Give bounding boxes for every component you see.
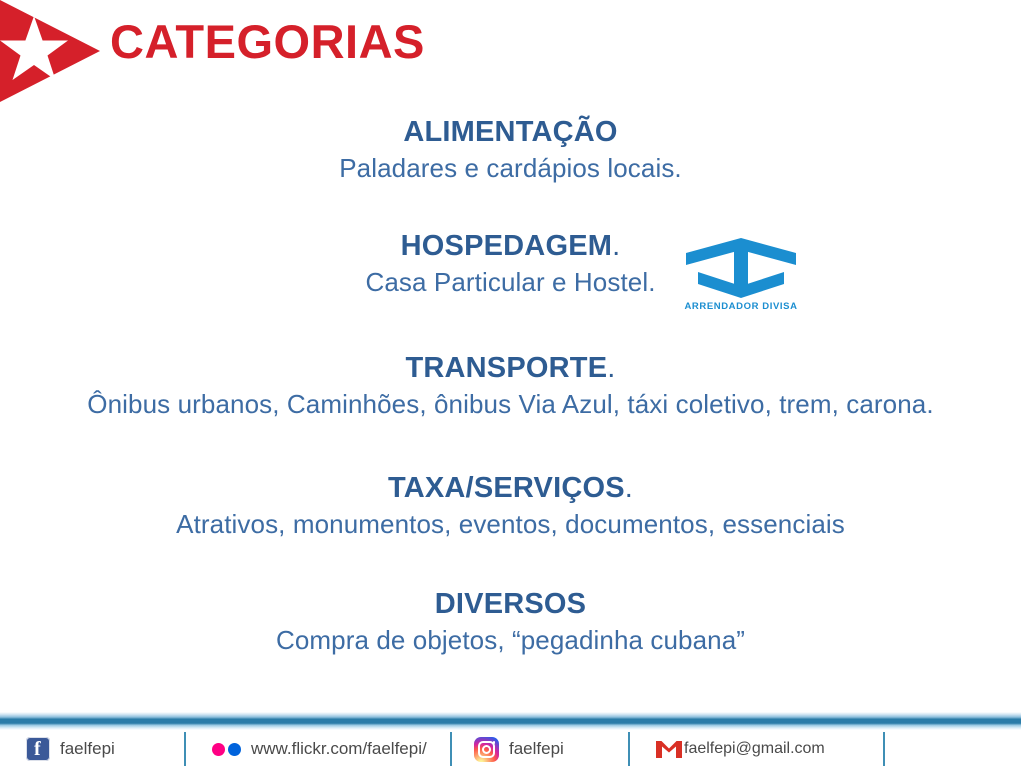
categories-list: ALIMENTAÇÃO Paladares e cardápios locais… <box>0 112 1021 658</box>
arrendador-divisa-logo: ARRENDADOR DIVISA <box>682 236 800 318</box>
footer-item-flickr[interactable]: www.flickr.com/faelfepi/ <box>186 731 452 767</box>
category-heading-text: HOSPEDAGEM <box>401 230 612 262</box>
footer-item-facebook[interactable]: faelfepi <box>0 731 186 767</box>
footer-item-label: faelfepi@gmail.com <box>684 740 825 758</box>
category-heading-text: TRANSPORTE <box>405 352 607 384</box>
slide-footer: faelfepi www.flickr.com/faelfepi/ faelfe… <box>0 712 1021 767</box>
category-description: Casa Particular e Hostel. <box>0 266 1021 300</box>
flickr-icon <box>212 743 241 756</box>
footer-divider <box>883 732 885 766</box>
category-heading: DIVERSOS <box>0 586 1021 622</box>
footer-item-label: www.flickr.com/faelfepi/ <box>251 739 427 759</box>
page-title: CATEGORIAS <box>110 16 425 68</box>
category-heading-text: ALIMENTAÇÃO <box>403 116 617 148</box>
category-heading: HOSPEDAGEM. <box>0 228 1021 264</box>
footer-social-bar: faelfepi www.flickr.com/faelfepi/ faelfe… <box>0 731 1021 767</box>
category-heading: ALIMENTAÇÃO <box>0 114 1021 150</box>
category-heading: TRANSPORTE. <box>0 350 1021 386</box>
category-block-diversos: DIVERSOS Compra de objetos, “pegadinha c… <box>0 586 1021 658</box>
category-heading-punct: . <box>625 472 633 504</box>
category-block-hospedagem: HOSPEDAGEM. Casa Particular e Hostel. AR… <box>0 228 1021 300</box>
footer-item-instagram[interactable]: faelfepi <box>452 731 630 767</box>
category-heading-text: TAXA/SERVIÇOS <box>388 472 625 504</box>
slide-header: CATEGORIAS <box>0 0 1021 105</box>
instagram-icon <box>474 737 499 762</box>
arrendador-divisa-icon <box>682 236 800 300</box>
arrendador-divisa-caption: ARRENDADOR DIVISA <box>682 301 800 312</box>
category-description: Ônibus urbanos, Caminhões, ônibus Via Az… <box>0 388 1021 422</box>
facebook-icon <box>26 737 50 761</box>
gmail-icon <box>656 739 682 759</box>
cuba-flag-icon <box>0 0 104 102</box>
category-description: Paladares e cardápios locais. <box>0 152 1021 186</box>
footer-item-label: faelfepi <box>60 739 115 759</box>
footer-item-label: faelfepi <box>509 739 564 759</box>
category-heading-punct: . <box>607 352 615 384</box>
category-heading-text: DIVERSOS <box>435 588 586 620</box>
category-block-taxa-servicos: TAXA/SERVIÇOS. Atrativos, monumentos, ev… <box>0 470 1021 542</box>
category-heading-punct: . <box>612 230 620 262</box>
category-heading: TAXA/SERVIÇOS. <box>0 470 1021 506</box>
category-block-transporte: TRANSPORTE. Ônibus urbanos, Caminhões, ô… <box>0 350 1021 422</box>
footer-item-gmail[interactable]: faelfepi@gmail.com <box>630 731 885 767</box>
category-description: Atrativos, monumentos, eventos, document… <box>0 508 1021 542</box>
category-description: Compra de objetos, “pegadinha cubana” <box>0 624 1021 658</box>
category-block-alimentacao: ALIMENTAÇÃO Paladares e cardápios locais… <box>0 114 1021 186</box>
footer-divider-rule <box>0 712 1021 730</box>
